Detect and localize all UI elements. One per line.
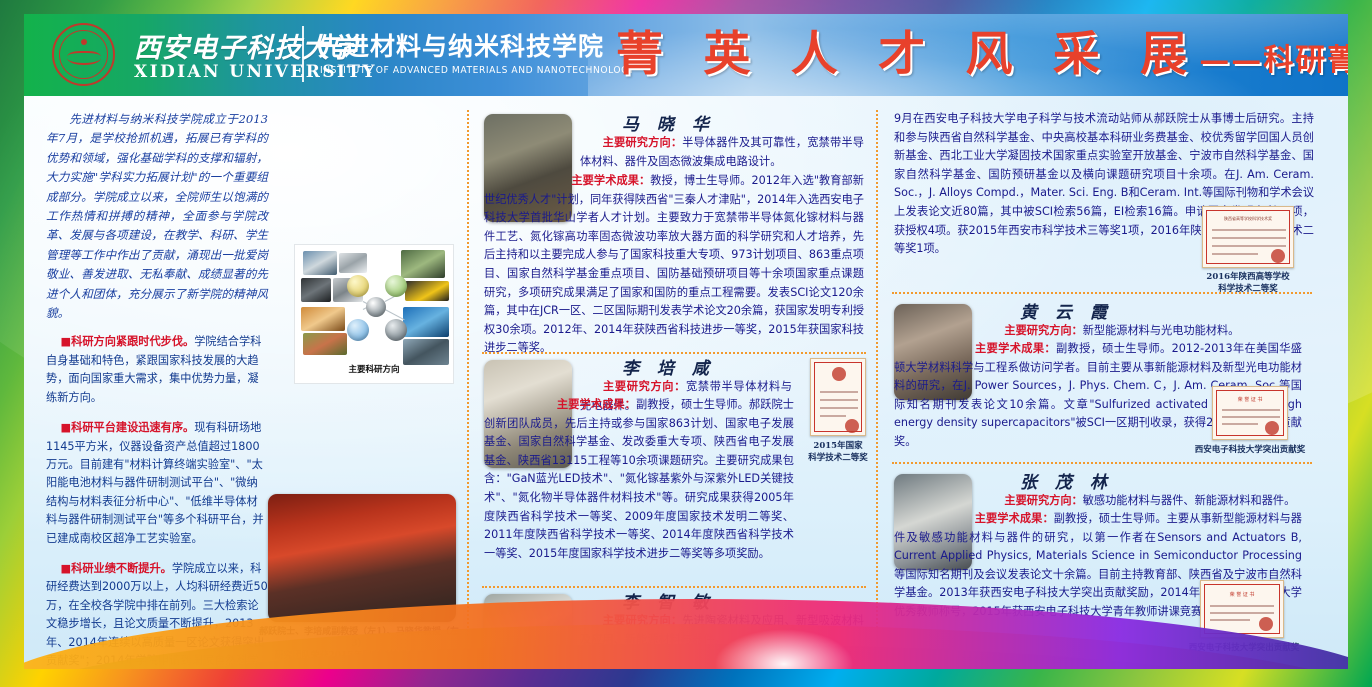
section-2-text: 现有科研场地1145平方米，仪器设备资产总值超过1800万元。目前建有"材料计算…: [46, 421, 264, 544]
certificate-line-i: [1210, 612, 1274, 614]
certificate-line-g: [1222, 423, 1258, 425]
profile-name-huang-yunxia: 黄 云 霞: [1020, 298, 1113, 323]
certificate-line-j: [1210, 619, 1250, 621]
intro-paragraph: 先进材料与纳米科技学院成立于2013年7月，是学校抢抓机遇，拓展已有学科的优势和…: [46, 110, 268, 323]
certificate-caption-2: 2015年国家 科学技术二等奖: [800, 440, 876, 464]
diagram-thumb-8: [303, 333, 347, 355]
text-achievements-1: 教授，博士生导师。2012年入选"教育部新世纪优秀人才"计划，同年获得陕西省"三…: [484, 174, 864, 354]
label-achievements-5: 主要学术成果：: [975, 512, 1054, 525]
section-2-marker: ■: [61, 421, 72, 434]
label-achievements-1: 主要学术成果：: [571, 174, 650, 187]
profile-divider-4: [892, 462, 1312, 464]
section-3-marker: ■: [61, 562, 72, 575]
certificate-title-4: 荣 誉 证 书: [1238, 396, 1263, 403]
header-divider: [302, 26, 304, 82]
poster-header: 西安电子科技大学 XIDIAN UNIVERSITY 先进材料与纳米科技学院 I…: [24, 14, 1348, 96]
certificate-line-a: [1212, 229, 1286, 231]
certificate-line-f: [1222, 416, 1280, 418]
certificate-line-b: [1212, 237, 1286, 239]
profile-divider-3: [892, 292, 1312, 294]
text-achievements-2: 副教授，硕士生导师。郝跃院士创新团队成员，先后主持或参与国家863计划、国家电子…: [484, 398, 794, 560]
group-photo: [268, 494, 456, 622]
text-research-direction-5: 敏感功能材料与器件、新能源材料和器件。: [1083, 494, 1296, 507]
research-directions-diagram: 主要科研方向: [294, 244, 454, 384]
certificate-stamp: [845, 419, 859, 433]
certificate-stamp-5: [1259, 617, 1273, 631]
certificate-line-1: [820, 391, 858, 393]
certificate-stamp-3: [1271, 249, 1285, 263]
institute-name-cn: 先进材料与纳米科技学院: [318, 27, 604, 63]
diagram-thumb-3: [301, 278, 331, 302]
certificate-xidian-award-1: 荣 誉 证 书: [1212, 386, 1288, 440]
profile-huang-research: 主要研究方向：新型能源材料与光电功能材料。: [982, 322, 1302, 341]
diagram-thumb-9: [403, 307, 449, 337]
profile-ma-achievements: 主要学术成果：教授，博士生导师。2012年入选"教育部新世纪优秀人才"计划，同年…: [484, 172, 864, 358]
certificate-line-d: [1212, 253, 1258, 255]
profile-name-li-peixian: 李 培 咸: [622, 354, 715, 379]
diagram-node-3: [347, 319, 369, 341]
section-1: ■科研方向紧跟时代步伐。学院结合学科自身基础和特色，紧跟国家科技发展的大趋势，面…: [46, 333, 268, 407]
certificate-title-5: 荣 誉 证 书: [1230, 591, 1255, 598]
diagram-node-1: [347, 275, 369, 297]
footer-glow: [714, 629, 854, 669]
label-research-direction-1: 主要研究方向：: [602, 136, 682, 149]
certificate-2015-national: [810, 358, 866, 436]
seal-dot: [81, 39, 87, 45]
diagram-thumb-10: [403, 339, 449, 365]
diagram-caption: 主要科研方向: [295, 363, 453, 375]
section-1-marker: ■: [61, 335, 72, 348]
column-separator-2: [876, 110, 878, 640]
institute-name-en: INSTITUTE OF ADVANCED MATERIALS AND NANO…: [320, 65, 635, 76]
section-3-heading: 科研业绩不断提升。: [71, 562, 172, 575]
certificate-line-e: [1222, 409, 1280, 411]
certificate-caption-huang: 西安电子科技大学突出贡献奖: [1184, 444, 1316, 456]
university-seal-icon: [52, 23, 115, 86]
diagram-node-4: [385, 319, 407, 341]
certificate-line-h: [1210, 605, 1274, 607]
certificate-2016-shaanxi: 陕西省高等学校科学技术奖: [1202, 206, 1294, 268]
poster-frame: 西安电子科技大学 XIDIAN UNIVERSITY 先进材料与纳米科技学院 I…: [0, 0, 1372, 687]
column-separator-1: [467, 110, 469, 640]
section-1-heading: 科研方向紧跟时代步伐。: [71, 335, 194, 348]
diagram-thumb-7: [301, 307, 345, 331]
profile-li-achievements-top: 主要学术成果：副教授，硕士生导师。郝跃院士创新团队成员，先后主持或参与国家863…: [484, 396, 794, 563]
poster-title-sub: ——科研菁英: [1199, 43, 1348, 78]
diagram-thumb-6: [405, 281, 449, 301]
certificate-seal: [832, 367, 846, 381]
certificate-title-3: 陕西省高等学校科学技术奖: [1224, 216, 1272, 222]
diagram-thumb-5: [401, 250, 445, 278]
certificate-line-3: [820, 407, 858, 409]
certificate-line-c: [1212, 245, 1286, 247]
poster-title: 菁 英 人 才 风 采 展——科研菁英: [616, 22, 1316, 88]
text-research-direction-4: 新型能源材料与光电功能材料。: [1083, 324, 1240, 337]
profile-zhang-research: 主要研究方向：敏感功能材料与器件、新能源材料和器件。: [982, 492, 1302, 511]
section-2-heading: 科研平台建设迅速有序。: [71, 421, 194, 434]
poster-body: 先进材料与纳米科技学院成立于2013年7月，是学校抢抓机遇，拓展已有学科的优势和…: [24, 96, 1348, 669]
diagram-thumb-2: [339, 253, 367, 273]
certificate-line-4: [820, 415, 846, 417]
label-research-direction-2: 主要研究方向：: [602, 380, 686, 393]
poster-title-main: 菁 英 人 才 风 采 展: [616, 27, 1199, 82]
seal-wing: [67, 51, 101, 65]
profile-name-zhang-maolin: 张 茂 林: [1020, 468, 1113, 493]
label-achievements-4: 主要学术成果：: [975, 342, 1056, 355]
section-2: ■科研平台建设迅速有序。现有科研场地1145平方米，仪器设备资产总值超过1800…: [46, 419, 268, 548]
poster-page: 西安电子科技大学 XIDIAN UNIVERSITY 先进材料与纳米科技学院 I…: [24, 14, 1348, 669]
diagram-thumb-1: [303, 251, 337, 275]
profile-ma-research: 主要研究方向：半导体器件及其可靠性，宽禁带半导体材料、器件及固态微波集成电路设计…: [580, 134, 864, 171]
label-research-direction-5: 主要研究方向：: [1004, 494, 1082, 507]
certificate-stamp-4: [1265, 421, 1279, 435]
profile-name-ma-xiaohua: 马 晓 华: [622, 110, 715, 135]
diagram-node-2: [385, 275, 407, 297]
certificate-line-2: [820, 399, 858, 401]
label-research-direction-4: 主要研究方向：: [1004, 324, 1082, 337]
diagram-node-center: [366, 297, 386, 317]
label-achievements-2: 主要学术成果：: [557, 398, 636, 411]
